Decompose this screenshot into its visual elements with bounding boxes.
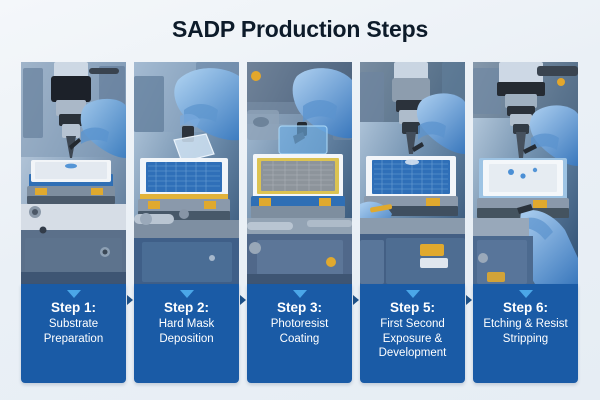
- arrow-right-icon: [353, 295, 359, 305]
- step-card-5[interactable]: Step 6: Etching & Resist Stripping: [473, 62, 578, 383]
- step-name-5: Etching & Resist Stripping: [478, 317, 573, 346]
- page-title: SADP Production Steps: [0, 0, 600, 58]
- etching-resist-stripping-photo-icon: [473, 62, 578, 284]
- step-number-3: Step 3:: [252, 300, 347, 315]
- connector-4-to-5: [465, 294, 473, 306]
- steps-row: Step 1: Substrate Preparation: [21, 62, 579, 383]
- step-caption-3: Step 3: Photoresist Coating: [247, 284, 352, 383]
- infographic-canvas: SADP Production Steps: [0, 0, 600, 400]
- connector-1-to-2: [126, 294, 134, 306]
- step-photo-3: [247, 62, 352, 284]
- step-caption-1: Step 1: Substrate Preparation: [21, 284, 126, 383]
- step-photo-1: [21, 62, 126, 284]
- step-name-3: Photoresist Coating: [252, 317, 347, 346]
- arrow-right-icon: [127, 295, 133, 305]
- triangle-down-icon: [406, 290, 420, 298]
- step-number-2: Step 2:: [139, 300, 234, 315]
- step-number-1: Step 1:: [26, 300, 121, 315]
- connector-3-to-4: [352, 294, 360, 306]
- triangle-down-icon: [67, 290, 81, 298]
- step-name-2: Hard Mask Deposition: [139, 317, 234, 346]
- step-photo-2: [134, 62, 239, 284]
- step-number-4: Step 5:: [365, 300, 460, 315]
- arrow-right-icon: [466, 295, 472, 305]
- connector-2-to-3: [239, 294, 247, 306]
- step-photo-5: [473, 62, 578, 284]
- exposure-development-photo-icon: [360, 62, 465, 284]
- step-caption-5: Step 6: Etching & Resist Stripping: [473, 284, 578, 383]
- step-name-4: First Second Exposure & Development: [365, 317, 460, 361]
- step-number-5: Step 6:: [478, 300, 573, 315]
- step-card-3[interactable]: Step 3: Photoresist Coating: [247, 62, 352, 383]
- triangle-down-icon: [519, 290, 533, 298]
- step-card-2[interactable]: Step 2: Hard Mask Deposition: [134, 62, 239, 383]
- triangle-down-icon: [180, 290, 194, 298]
- step-name-1: Substrate Preparation: [26, 317, 121, 346]
- step-caption-4: Step 5: First Second Exposure & Developm…: [360, 284, 465, 383]
- step-caption-2: Step 2: Hard Mask Deposition: [134, 284, 239, 383]
- photoresist-coating-photo-icon: [247, 62, 352, 284]
- substrate-preparation-photo-icon: [21, 62, 126, 284]
- triangle-down-icon: [293, 290, 307, 298]
- step-card-4[interactable]: Step 5: First Second Exposure & Developm…: [360, 62, 465, 383]
- step-photo-4: [360, 62, 465, 284]
- step-card-1[interactable]: Step 1: Substrate Preparation: [21, 62, 126, 383]
- hard-mask-deposition-photo-icon: [134, 62, 239, 284]
- arrow-right-icon: [240, 295, 246, 305]
